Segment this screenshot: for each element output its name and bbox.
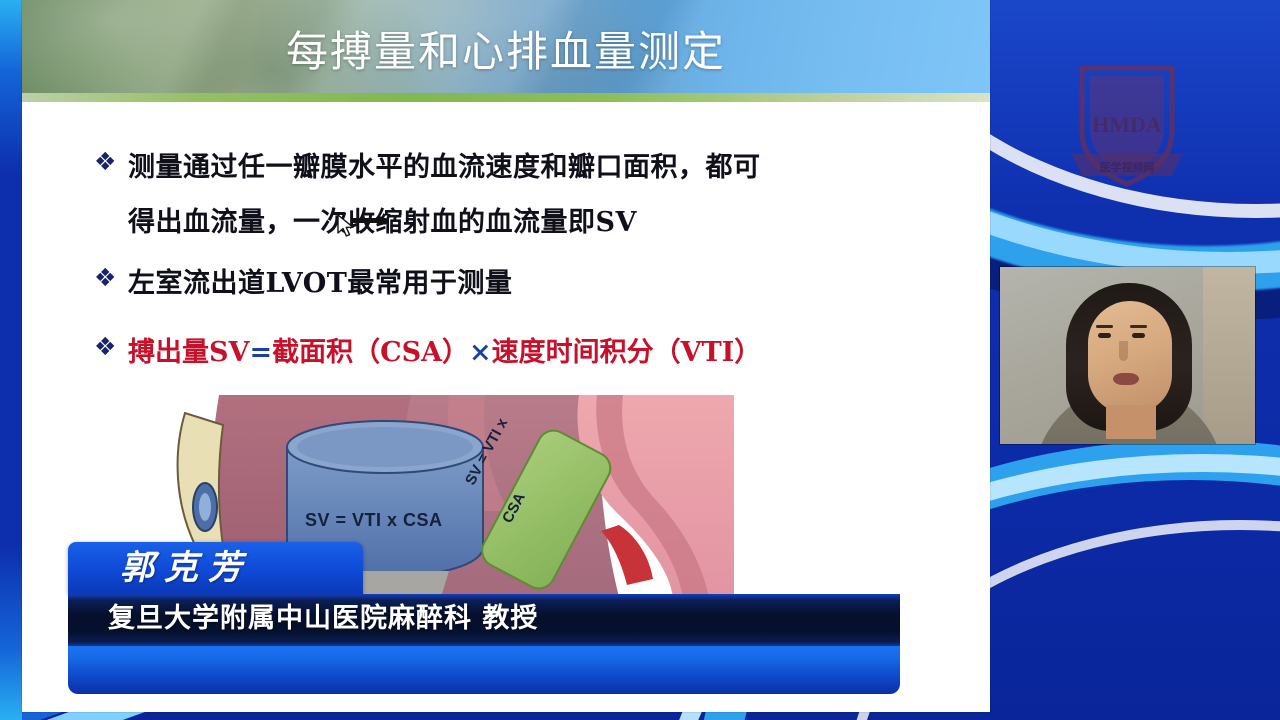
bullet-item-2-text: 左室流出道LVOT最常用于测量 (128, 256, 934, 311)
formula-operator-equals: = (249, 337, 272, 368)
header-green-divider (22, 93, 990, 102)
bullet-item-1: ❖ 测量通过任一瓣膜水平的血流速度和瓣口面积，都可 得出血流量，一次收缩射血的血… (94, 140, 934, 250)
speaker-name-plate: 郭克芳 (68, 542, 363, 594)
formula-text: 搏出量SV=截面积（CSA）×速度时间积分（VTI） (128, 325, 934, 380)
cursor-text-caret-trail (352, 218, 386, 223)
figure-label-cylinder: SV = VTI x CSA (305, 510, 443, 531)
speaker-title: 复旦大学附属中山医院麻醉科 教授 (108, 594, 538, 644)
presenter-neck (1106, 405, 1156, 439)
presenter-mouth (1113, 373, 1139, 385)
presenter-eye-right (1132, 333, 1145, 338)
bullet-item-1-line1: 测量通过任一瓣膜水平的血流速度和瓣口面积，都可 (128, 152, 761, 183)
bullet-item-3-formula: ❖ 搏出量SV=截面积（CSA）×速度时间积分（VTI） (94, 325, 934, 380)
presenter-webcam-video[interactable] (1000, 267, 1255, 444)
left-accent-rail (0, 0, 22, 720)
bullet-list: ❖ 测量通过任一瓣膜水平的血流速度和瓣口面积，都可 得出血流量，一次收缩射血的血… (94, 140, 934, 386)
presenter-nose (1119, 341, 1128, 361)
speaker-title-bar: 复旦大学附属中山医院麻醉科 教授 (68, 594, 900, 646)
slide-header-band: 每搏量和心排血量测定 (22, 0, 990, 93)
formula-part-csa: 截面积（CSA） (272, 337, 469, 368)
formula-operator-times: × (469, 337, 492, 368)
presenter-eyebrow-left (1096, 325, 1113, 328)
speaker-name: 郭克芳 (120, 542, 252, 594)
bullet-item-1-text: 测量通过任一瓣膜水平的血流速度和瓣口面积，都可 得出血流量，一次收缩射血的血流量… (128, 140, 934, 250)
diamond-bullet-icon: ❖ (94, 325, 128, 369)
formula-part-vti: 速度时间积分（VTI） (492, 337, 762, 368)
presenter-eye-left (1098, 333, 1111, 338)
presentation-slide: 每搏量和心排血量测定 ❖ 测量通过任一瓣膜水平的血流速度和瓣口面积，都可 得出血… (22, 0, 990, 712)
presenter-eyebrow-right (1130, 325, 1147, 328)
formula-part-sv: 搏出量SV (128, 337, 249, 368)
slide-title: 每搏量和心排血量测定 (22, 18, 990, 79)
video-player-stage: 每搏量和心排血量测定 ❖ 测量通过任一瓣膜水平的血流速度和瓣口面积，都可 得出血… (0, 0, 1280, 720)
diamond-bullet-icon: ❖ (94, 140, 128, 184)
presenter-face (1088, 301, 1172, 413)
lower-third-blue-bar (68, 646, 900, 694)
bullet-item-2: ❖ 左室流出道LVOT最常用于测量 (94, 256, 934, 311)
webcam-wall-edge (1203, 267, 1255, 444)
diamond-bullet-icon: ❖ (94, 256, 128, 300)
